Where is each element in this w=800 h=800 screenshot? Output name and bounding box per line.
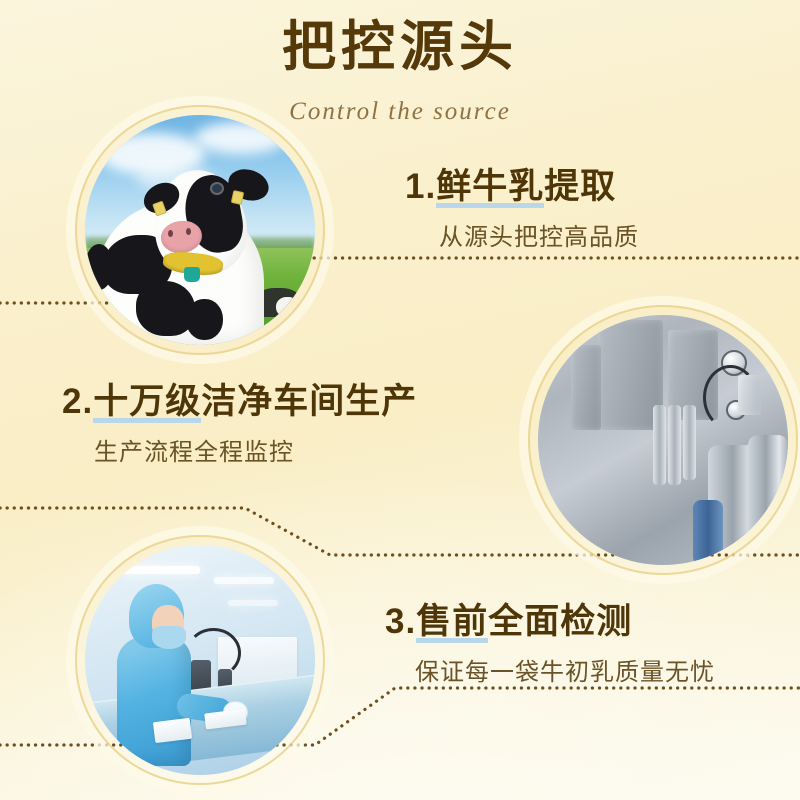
step-1-number: 1. [405, 167, 436, 206]
step-2-title-rest: 洁净车间生产 [201, 382, 417, 421]
page-title: 把控源头 [0, 16, 800, 78]
step-2-subtitle: 生产流程全程监控 [62, 432, 417, 467]
step-3-title-rest: 全面检测 [488, 602, 632, 641]
step-1-subtitle: 从源头把控高品质 [405, 217, 639, 252]
step-2: 2.十万级洁净车间生产 生产流程全程监控 [62, 383, 417, 467]
step-1-title-highlight: 鲜牛乳 [436, 167, 544, 208]
step-3-title: 3.售前全面检测 [385, 603, 715, 642]
step-3: 3.售前全面检测 保证每一袋牛初乳质量无忧 [385, 603, 715, 687]
step-3-number: 3. [385, 602, 416, 641]
step-1-title-rest: 提取 [544, 167, 616, 206]
promo-poster: 把控源头 Control the source [0, 0, 800, 800]
step-2-number: 2. [62, 382, 93, 421]
step-2-title: 2.十万级洁净车间生产 [62, 383, 417, 422]
step-1-title: 1.鲜牛乳提取 [405, 168, 639, 207]
step-3-subtitle: 保证每一袋牛初乳质量无忧 [385, 652, 715, 687]
lab-inspection-worker-photo [85, 545, 315, 775]
step-1: 1.鲜牛乳提取 从源头把控高品质 [405, 168, 639, 252]
step-3-title-highlight: 售前 [416, 602, 488, 643]
step-2-title-highlight: 十万级 [93, 382, 201, 423]
dairy-cow-pasture-photo [85, 115, 315, 345]
clean-room-factory-workers-photo [538, 315, 788, 565]
